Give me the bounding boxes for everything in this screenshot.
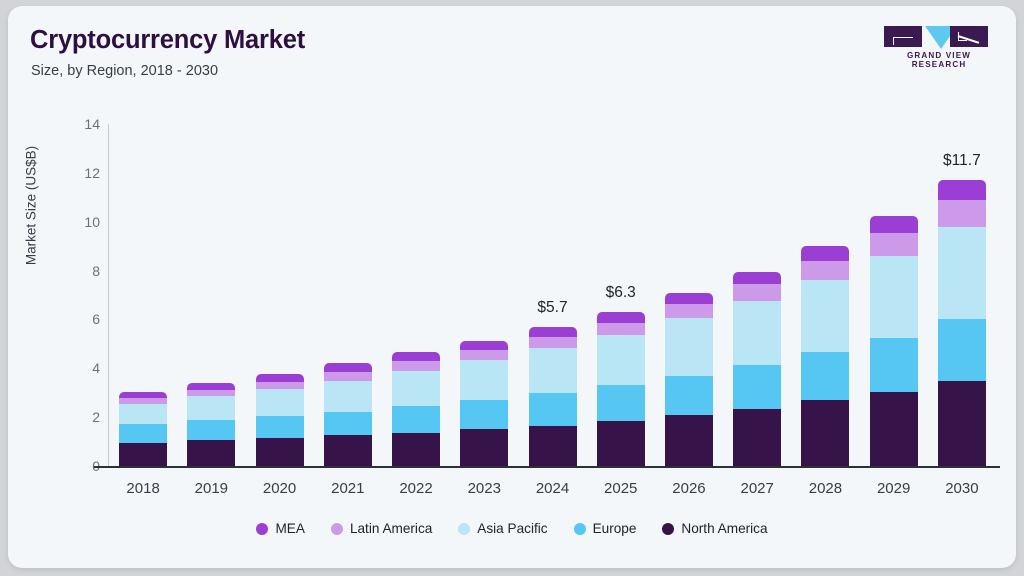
bar-group-2026[interactable] — [665, 124, 713, 466]
bar-segment-europe[interactable] — [460, 400, 508, 429]
y-axis-tick-8: 8 — [60, 263, 100, 279]
x-axis-tick-2024: 2024 — [536, 480, 569, 497]
legend-swatch-icon — [256, 523, 268, 535]
chart-legend: MEALatin AmericaAsia PacificEuropeNorth … — [8, 521, 1016, 536]
bar-segment-latin-america[interactable] — [529, 337, 577, 348]
bar-segment-mea[interactable] — [529, 327, 577, 337]
bar-stack — [870, 216, 918, 466]
bar-segment-europe[interactable] — [529, 393, 577, 426]
bar-segment-north-america[interactable] — [733, 409, 781, 466]
x-axis-tick-2025: 2025 — [604, 480, 637, 497]
bar-segment-asia-pacific[interactable] — [529, 348, 577, 393]
bar-stack — [801, 246, 849, 466]
bar-segment-europe[interactable] — [733, 365, 781, 409]
bar-segment-north-america[interactable] — [460, 429, 508, 466]
legend-label: Latin America — [350, 521, 432, 536]
bar-segment-latin-america[interactable] — [392, 361, 440, 371]
bar-segment-europe[interactable] — [597, 385, 645, 420]
x-axis-tick-2022: 2022 — [399, 480, 432, 497]
bar-segment-mea[interactable] — [938, 180, 986, 200]
bar-group-2030[interactable]: $11.7 — [938, 124, 986, 466]
bar-segment-europe[interactable] — [938, 319, 986, 380]
y-axis-tick-2: 2 — [60, 409, 100, 425]
bar-segment-north-america[interactable] — [187, 440, 235, 466]
bar-segment-europe[interactable] — [870, 338, 918, 392]
legend-item-latin-america[interactable]: Latin America — [331, 521, 432, 536]
bar-stack — [256, 374, 304, 466]
bar-segment-north-america[interactable] — [597, 421, 645, 466]
bar-segment-mea[interactable] — [801, 246, 849, 261]
bar-segment-asia-pacific[interactable] — [801, 280, 849, 352]
chart-subtitle: Size, by Region, 2018 - 2030 — [31, 63, 218, 79]
logo-g-mark-icon — [893, 37, 913, 45]
grand-view-research-logo: GRAND VIEW RESEARCH — [878, 26, 1000, 64]
bar-segment-latin-america[interactable] — [460, 350, 508, 360]
bar-segment-latin-america[interactable] — [187, 390, 235, 397]
bar-group-2025[interactable]: $6.3 — [597, 124, 645, 466]
bar-segment-asia-pacific[interactable] — [870, 256, 918, 338]
bar-segment-north-america[interactable] — [665, 415, 713, 466]
x-axis-tick-2030: 2030 — [945, 480, 978, 497]
bar-segment-mea[interactable] — [392, 352, 440, 361]
bar-segment-latin-america[interactable] — [801, 261, 849, 281]
y-axis-tick-6: 6 — [60, 311, 100, 327]
bar-segment-asia-pacific[interactable] — [187, 396, 235, 419]
bar-stack — [392, 352, 440, 466]
bar-segment-north-america[interactable] — [801, 400, 849, 466]
bar-segment-asia-pacific[interactable] — [733, 301, 781, 365]
bar-segment-asia-pacific[interactable] — [938, 227, 986, 320]
bar-segment-asia-pacific[interactable] — [256, 389, 304, 416]
legend-item-asia-pacific[interactable]: Asia Pacific — [458, 521, 547, 536]
bar-segment-latin-america[interactable] — [870, 233, 918, 256]
legend-swatch-icon — [458, 523, 470, 535]
bar-segment-europe[interactable] — [256, 416, 304, 438]
page-title: Cryptocurrency Market — [30, 26, 305, 55]
chart-card: Cryptocurrency Market Size, by Region, 2… — [8, 6, 1016, 568]
x-axis-tick-2029: 2029 — [877, 480, 910, 497]
y-axis-ticks: 02468101214 — [56, 124, 100, 466]
x-axis-tick-2019: 2019 — [195, 480, 228, 497]
x-axis-tick-2027: 2027 — [741, 480, 774, 497]
legend-swatch-icon — [331, 523, 343, 535]
legend-label: Europe — [593, 521, 637, 536]
legend-item-north-america[interactable]: North America — [662, 521, 767, 536]
bar-segment-latin-america[interactable] — [733, 284, 781, 301]
bar-segment-mea[interactable] — [460, 341, 508, 350]
legend-label: Asia Pacific — [477, 521, 547, 536]
bar-segment-latin-america[interactable] — [256, 382, 304, 389]
bar-group-2024[interactable]: $5.7 — [529, 124, 577, 466]
bar-segment-north-america[interactable] — [119, 443, 167, 466]
bar-segment-asia-pacific[interactable] — [665, 318, 713, 375]
bar-value-label-2025: $6.3 — [606, 284, 636, 302]
bar-stack — [119, 392, 167, 466]
logo-arrow-mark-icon — [958, 32, 980, 42]
bar-stack — [597, 312, 645, 466]
legend-label: MEA — [275, 521, 304, 536]
y-axis-tick-12: 12 — [60, 165, 100, 181]
bar-stack — [187, 383, 235, 466]
y-axis-tick-4: 4 — [60, 360, 100, 376]
bar-group-2029[interactable] — [870, 124, 918, 466]
bar-segment-north-america[interactable] — [324, 435, 372, 466]
bar-value-label-2024: $5.7 — [537, 299, 567, 317]
bar-segment-europe[interactable] — [665, 376, 713, 415]
bar-segment-mea[interactable] — [665, 293, 713, 304]
bar-group-2023[interactable] — [460, 124, 508, 466]
y-axis-tick-10: 10 — [60, 214, 100, 230]
bar-group-2018[interactable] — [119, 124, 167, 466]
bar-segment-north-america[interactable] — [938, 381, 986, 467]
legend-item-mea[interactable]: MEA — [256, 521, 304, 536]
bar-segment-latin-america[interactable] — [938, 200, 986, 227]
bar-segment-asia-pacific[interactable] — [324, 381, 372, 413]
legend-label: North America — [681, 521, 767, 536]
logo-text: GRAND VIEW RESEARCH — [878, 51, 1000, 69]
logo-marks — [878, 26, 1000, 48]
bar-stack — [460, 341, 508, 466]
bar-value-label-2030: $11.7 — [943, 152, 981, 170]
logo-square-right-icon — [950, 26, 988, 47]
bar-segment-mea[interactable] — [256, 374, 304, 381]
x-axis-tick-2020: 2020 — [263, 480, 296, 497]
bar-segment-north-america[interactable] — [256, 438, 304, 466]
bar-segment-europe[interactable] — [119, 424, 167, 442]
bar-segment-latin-america[interactable] — [597, 323, 645, 335]
bar-segment-mea[interactable] — [870, 216, 918, 233]
y-axis-tick-14: 14 — [60, 116, 100, 132]
x-axis-tick-2018: 2018 — [126, 480, 159, 497]
bar-segment-asia-pacific[interactable] — [119, 404, 167, 425]
bar-segment-latin-america[interactable] — [665, 304, 713, 319]
x-axis-line — [94, 466, 1000, 468]
bar-group-2019[interactable] — [187, 124, 235, 466]
bar-stack — [733, 272, 781, 466]
bar-segment-mea[interactable] — [187, 383, 235, 390]
bar-segment-europe[interactable] — [324, 412, 372, 435]
bar-group-2028[interactable] — [801, 124, 849, 466]
y-axis-title: Market Size (US$B) — [24, 106, 39, 306]
bar-segment-north-america[interactable] — [870, 392, 918, 467]
x-axis-tick-2023: 2023 — [468, 480, 501, 497]
bar-segment-north-america[interactable] — [529, 426, 577, 466]
bar-stack — [938, 180, 986, 466]
bar-segment-mea[interactable] — [597, 312, 645, 323]
logo-square-left-icon — [884, 26, 922, 47]
bar-segment-europe[interactable] — [801, 352, 849, 400]
x-axis-tick-2021: 2021 — [331, 480, 364, 497]
bar-segment-asia-pacific[interactable] — [460, 360, 508, 400]
bar-group-2027[interactable] — [733, 124, 781, 466]
bar-stack — [529, 327, 577, 466]
bar-segment-asia-pacific[interactable] — [597, 335, 645, 385]
bar-group-2022[interactable] — [392, 124, 440, 466]
bar-stack — [324, 363, 372, 466]
bar-segment-asia-pacific[interactable] — [392, 371, 440, 406]
bar-segment-north-america[interactable] — [392, 433, 440, 466]
bar-segment-mea[interactable] — [733, 272, 781, 284]
legend-item-europe[interactable]: Europe — [574, 521, 637, 536]
bar-stack — [665, 293, 713, 466]
x-axis-tick-2028: 2028 — [809, 480, 842, 497]
legend-swatch-icon — [662, 523, 674, 535]
bar-group-2021[interactable] — [324, 124, 372, 466]
bar-segment-latin-america[interactable] — [324, 372, 372, 381]
x-axis-tick-2026: 2026 — [672, 480, 705, 497]
bar-segment-mea[interactable] — [324, 363, 372, 372]
plot-area: $5.7$6.3$11.7 — [109, 124, 996, 466]
bar-group-2020[interactable] — [256, 124, 304, 466]
bar-segment-europe[interactable] — [187, 420, 235, 441]
legend-swatch-icon — [574, 523, 586, 535]
bar-segment-europe[interactable] — [392, 406, 440, 433]
